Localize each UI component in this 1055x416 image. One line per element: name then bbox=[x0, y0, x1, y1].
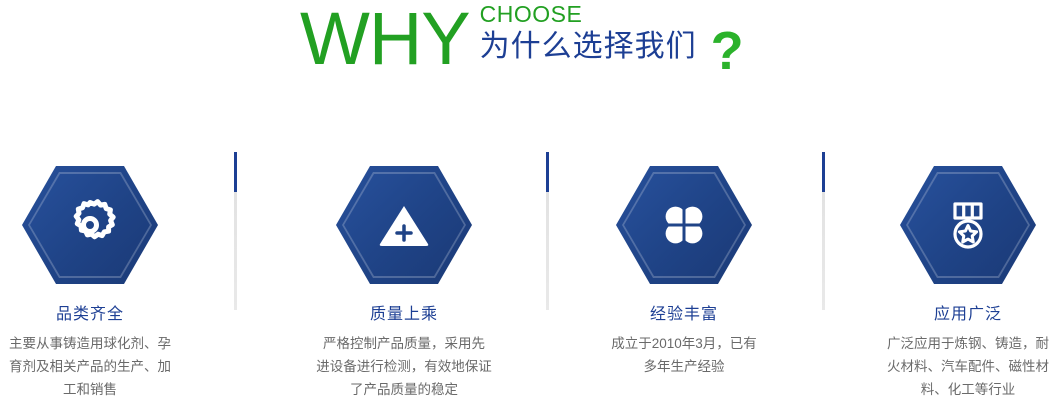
card-title: 经验丰富 bbox=[574, 304, 794, 326]
card-description: 广泛应用于炼钢、铸造，耐 火材料、汽车配件、磁性材 料、化工等行业 bbox=[858, 332, 1055, 401]
heading-why: WHY bbox=[300, 2, 470, 76]
feature-card-2[interactable]: 质量上乘 严格控制产品质量，采用先 进设备进行检测，有效地保证 了产品质量的稳定 bbox=[294, 150, 514, 401]
gear-icon bbox=[22, 166, 158, 284]
card-desc-line: 成立于2010年3月，已有 bbox=[586, 332, 782, 355]
card-desc-line: 工和销售 bbox=[0, 378, 188, 401]
medal-icon bbox=[900, 166, 1036, 284]
heading-middle-group: CHOOSE 为什么选择我们 bbox=[480, 2, 697, 64]
card-description: 成立于2010年3月，已有 多年生产经验 bbox=[574, 332, 794, 378]
hexagon-badge-3 bbox=[616, 166, 752, 284]
feature-card-3[interactable]: 经验丰富 成立于2010年3月，已有 多年生产经验 bbox=[574, 150, 794, 378]
card-desc-line: 进设备进行检测，有效地保证 bbox=[306, 355, 502, 378]
card-title: 品类齐全 bbox=[0, 304, 200, 326]
card-desc-line: 多年生产经验 bbox=[586, 355, 782, 378]
card-desc-line: 料、化工等行业 bbox=[870, 378, 1055, 401]
feature-card-1[interactable]: 品类齐全 主要从事铸造用球化剂、孕 育剂及相关产品的生产、加 工和销售 bbox=[0, 150, 200, 401]
card-title: 质量上乘 bbox=[294, 304, 514, 326]
hexagon-badge-4 bbox=[900, 166, 1036, 284]
card-desc-line: 育剂及相关产品的生产、加 bbox=[0, 355, 188, 378]
card-desc-line: 火材料、汽车配件、磁性材 bbox=[870, 355, 1055, 378]
feature-card-4[interactable]: 应用广泛 广泛应用于炼钢、铸造，耐 火材料、汽车配件、磁性材 料、化工等行业 bbox=[858, 150, 1055, 401]
heading-inner: WHY CHOOSE 为什么选择我们 ? bbox=[300, 0, 744, 78]
heading-question-mark: ? bbox=[711, 24, 744, 78]
card-description: 严格控制产品质量，采用先 进设备进行检测，有效地保证 了产品质量的稳定 bbox=[294, 332, 514, 401]
card-desc-line: 主要从事铸造用球化剂、孕 bbox=[0, 332, 188, 355]
card-desc-line: 广泛应用于炼钢、铸造，耐 bbox=[870, 332, 1055, 355]
hexagon-badge-1 bbox=[22, 166, 158, 284]
card-desc-line: 了产品质量的稳定 bbox=[306, 378, 502, 401]
heading-choose: CHOOSE bbox=[480, 2, 697, 26]
triangle-plus-icon bbox=[336, 166, 472, 284]
hexagon-badge-2 bbox=[336, 166, 472, 284]
card-description: 主要从事铸造用球化剂、孕 育剂及相关产品的生产、加 工和销售 bbox=[0, 332, 200, 401]
section-heading: WHY CHOOSE 为什么选择我们 ? bbox=[0, 0, 1055, 95]
heading-chinese-title: 为什么选择我们 bbox=[480, 30, 697, 64]
feature-cards: 品类齐全 主要从事铸造用球化剂、孕 育剂及相关产品的生产、加 工和销售 bbox=[0, 150, 1055, 416]
card-title: 应用广泛 bbox=[858, 304, 1055, 326]
clover-icon bbox=[616, 166, 752, 284]
card-desc-line: 严格控制产品质量，采用先 bbox=[306, 332, 502, 355]
